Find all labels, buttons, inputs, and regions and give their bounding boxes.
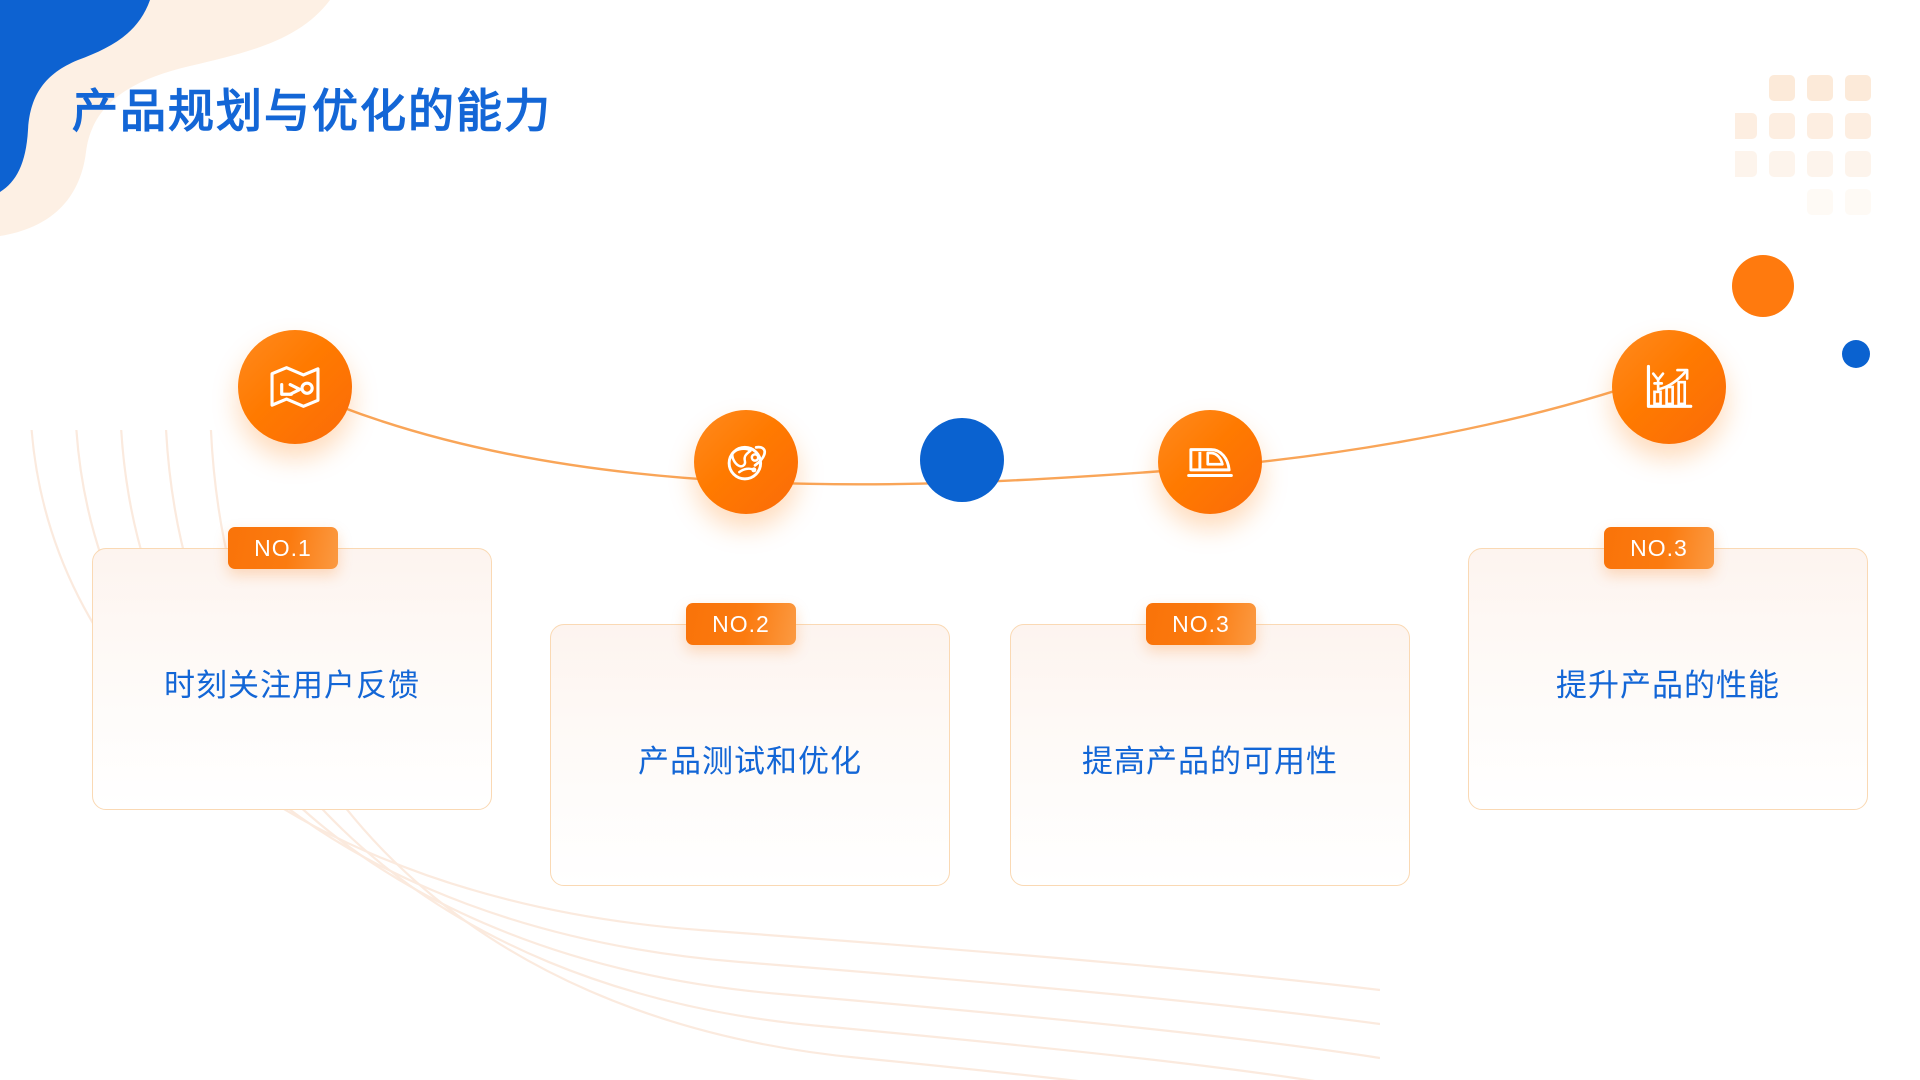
globe-orbit-icon	[719, 435, 773, 489]
orange-top-right-dot	[1732, 255, 1794, 317]
page-title: 产品规划与优化的能力	[72, 82, 552, 142]
map-location-icon	[266, 358, 324, 416]
node-icon-map[interactable]	[238, 330, 352, 444]
node-icon-chart[interactable]	[1612, 330, 1726, 444]
node-icon-globe[interactable]	[694, 410, 798, 514]
blue-top-right-dot	[1842, 340, 1870, 368]
card-1-badge: NO.1	[228, 527, 338, 569]
node-icon-train[interactable]	[1158, 410, 1262, 514]
blue-center-dot	[920, 418, 1004, 502]
high-speed-train-icon	[1183, 435, 1237, 489]
dot-grid-decoration	[1735, 75, 1915, 235]
card-2-badge: NO.2	[686, 603, 796, 645]
card-2-label: 产品测试和优化	[550, 736, 950, 781]
card-3-label: 提高产品的可用性	[1010, 736, 1410, 781]
card-1-label: 时刻关注用户反馈	[92, 660, 492, 705]
card-3-badge: NO.3	[1146, 603, 1256, 645]
card-4-label: 提升产品的性能	[1468, 660, 1868, 705]
slide-canvas: 产品规划与优化的能力	[0, 0, 1920, 1080]
bar-chart-yuan-growth-icon	[1640, 358, 1698, 416]
card-4-badge: NO.3	[1604, 527, 1714, 569]
